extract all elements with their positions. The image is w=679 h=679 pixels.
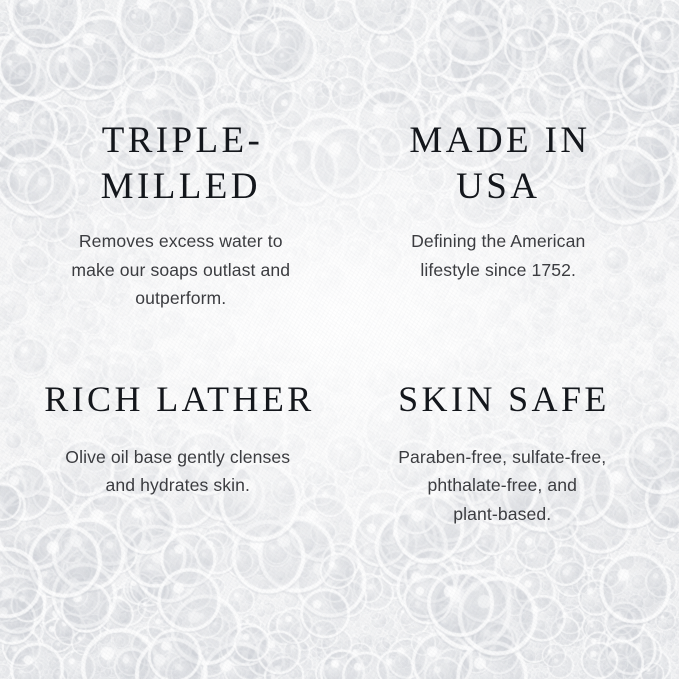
feature-body: Removes excess water to make our soaps o… [71, 227, 290, 313]
feature-triple-milled: TRIPLE- MILLED Removes excess water to m… [18, 118, 340, 336]
feature-body: Olive oil base gently clenses and hydrat… [65, 443, 290, 500]
feature-poster: TRIPLE- MILLED Removes excess water to m… [0, 0, 679, 679]
feature-body: Paraben-free, sulfate-free, phthalate-fr… [398, 443, 606, 529]
feature-body: Defining the American lifestyle since 17… [411, 227, 585, 284]
feature-skin-safe: SKIN SAFE Paraben-free, sulfate-free, ph… [340, 336, 662, 554]
feature-headline: TRIPLE- MILLED [98, 118, 263, 210]
feature-grid: TRIPLE- MILLED Removes excess water to m… [0, 0, 679, 679]
feature-headline: RICH LATHER [41, 376, 315, 422]
feature-rich-lather: RICH LATHER Olive oil base gently clense… [18, 336, 340, 554]
feature-made-in-usa: MADE IN USA Defining the American lifest… [340, 118, 662, 336]
feature-headline: MADE IN USA [406, 118, 590, 210]
feature-headline: SKIN SAFE [395, 376, 610, 422]
